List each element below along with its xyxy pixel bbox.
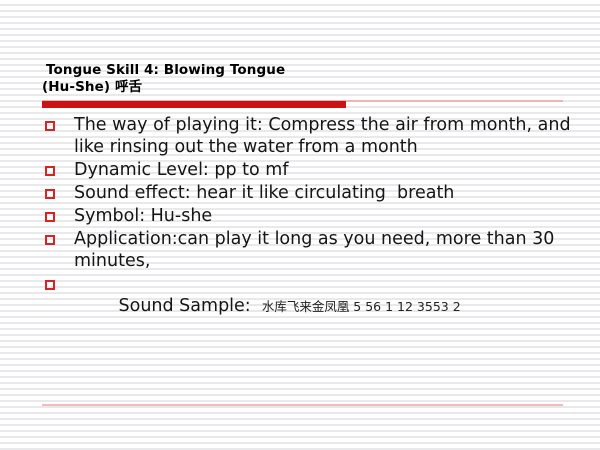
list-item: Sound Sample: 水库飞来金凤凰 5 56 1 12 3553 2 xyxy=(44,273,584,340)
title-line-1: Tongue Skill 4: Blowing Tongue xyxy=(46,62,566,79)
list-item-text: The way of playing it: Compress the air … xyxy=(74,114,584,158)
list-item-text: Sound Sample: 水库飞来金凤凰 5 56 1 12 3553 2 xyxy=(74,273,584,340)
square-bullet-icon xyxy=(45,280,55,290)
square-bullet-icon xyxy=(45,189,55,199)
list-item: The way of playing it: Compress the air … xyxy=(44,114,584,158)
square-bullet-icon xyxy=(45,212,55,222)
square-bullet-icon xyxy=(45,235,55,245)
divider-thick-bar xyxy=(42,101,346,108)
title-divider xyxy=(0,99,600,111)
list-item: Symbol: Hu-she xyxy=(44,205,584,227)
list-item: Application:can play it long as you need… xyxy=(44,228,584,272)
slide-title: Tongue Skill 4: Blowing Tongue (Hu-She) … xyxy=(46,62,566,96)
list-item: Sound effect: hear it like circulating b… xyxy=(44,182,584,204)
bullet-list: The way of playing it: Compress the air … xyxy=(44,114,584,341)
list-item-text: Symbol: Hu-she xyxy=(74,205,584,227)
list-item-text: Dynamic Level: pp to mf xyxy=(74,159,584,181)
sound-sample-label: Sound Sample: xyxy=(119,296,262,316)
square-bullet-icon xyxy=(45,166,55,176)
list-item-text: Application:can play it long as you need… xyxy=(74,228,584,272)
title-line-2: (Hu-She) 呼舌 xyxy=(42,79,566,96)
slide-canvas: Tongue Skill 4: Blowing Tongue (Hu-She) … xyxy=(0,0,600,450)
list-item-text: Sound effect: hear it like circulating b… xyxy=(74,182,584,204)
square-bullet-icon xyxy=(45,121,55,131)
bottom-rule xyxy=(42,404,563,406)
sound-sample-notation: 水库飞来金凤凰 5 56 1 12 3553 2 xyxy=(262,299,461,314)
list-item: Dynamic Level: pp to mf xyxy=(44,159,584,181)
